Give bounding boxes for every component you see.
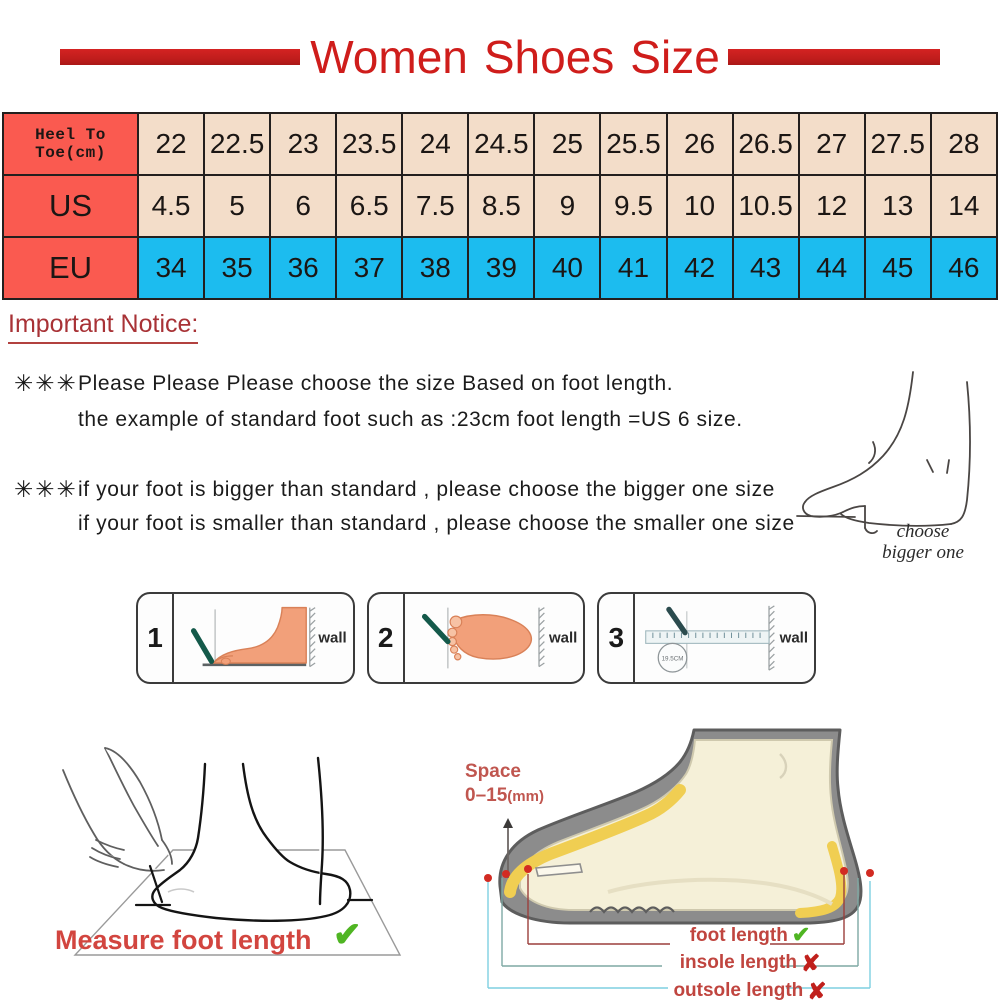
cell-us-0: 4.5 (138, 175, 204, 237)
bullet-stars-1: ✳✳✳ (14, 370, 78, 397)
cell-eu-0: 34 (138, 237, 204, 299)
sketch-caption: choose bigger one (858, 521, 988, 564)
cross-icon-insole-length: ✘ (801, 949, 820, 977)
step-illustration-2: wall (405, 594, 584, 682)
step-illustration-3: 19.5CM wall (635, 594, 814, 682)
shoe-dimension-labels: foot length ✔ insole length ✘ outsole le… (600, 922, 900, 1000)
dim-label-foot-length: foot length (690, 924, 788, 947)
notice-line-3: if your foot is bigger than standard , p… (78, 478, 775, 502)
cell-eu-9: 43 (733, 237, 799, 299)
cell-heel-1: 22.5 (204, 113, 270, 175)
cell-us-10: 12 (799, 175, 865, 237)
cell-us-2: 6 (270, 175, 336, 237)
size-chart-page: WomenShoesSize Heel To Toe(cm) 22 22.5 2… (0, 0, 1000, 1000)
cell-heel-7: 25.5 (600, 113, 666, 175)
check-icon-foot-length: ✔ (792, 922, 810, 949)
cell-heel-4: 24 (402, 113, 468, 175)
cell-us-6: 9 (534, 175, 600, 237)
measure-check-icon: ✔ (333, 918, 362, 952)
cell-heel-12: 28 (931, 113, 997, 175)
table-row: Heel To Toe(cm) 22 22.5 23 23.5 24 24.5 … (3, 113, 997, 175)
title-bar-left (60, 49, 300, 65)
cell-eu-12: 46 (931, 237, 997, 299)
cell-eu-10: 44 (799, 237, 865, 299)
page-title: WomenShoesSize (310, 34, 720, 80)
cell-eu-3: 37 (336, 237, 402, 299)
row-label-heel-to-toe: Heel To Toe(cm) (3, 113, 138, 175)
sketch-caption-line-2: bigger one (858, 542, 988, 563)
page-title-word-1: Women (310, 31, 468, 83)
sketch-caption-line-1: choose (858, 521, 988, 542)
space-unit: (mm) (507, 788, 544, 805)
notice-line-2: the example of standard foot such as :23… (78, 408, 743, 432)
page-title-banner: WomenShoesSize (0, 26, 1000, 88)
step-box-1: 1 (136, 592, 355, 684)
cell-us-5: 8.5 (468, 175, 534, 237)
cross-icon-outsole-length: ✘ (807, 977, 826, 1000)
cell-us-3: 6.5 (336, 175, 402, 237)
row-label-eu: EU (3, 237, 138, 299)
dim-label-insole-length: insole length (680, 951, 797, 974)
wall-label-2: wall (549, 630, 577, 647)
cell-heel-0: 22 (138, 113, 204, 175)
cell-us-7: 9.5 (600, 175, 666, 237)
step-box-2: 2 (367, 592, 586, 684)
space-label: Space 0–15(mm) (465, 760, 544, 808)
cell-heel-3: 23.5 (336, 113, 402, 175)
cell-heel-8: 26 (667, 113, 733, 175)
wall-label-1: wall (318, 630, 346, 647)
page-title-word-3: Size (630, 31, 719, 83)
step-number-2: 2 (369, 594, 405, 682)
space-label-line-1: Space (465, 760, 544, 784)
wall-label-3: wall (780, 630, 808, 647)
cell-eu-5: 39 (468, 237, 534, 299)
cell-heel-5: 24.5 (468, 113, 534, 175)
space-label-line-2: 0–15(mm) (465, 784, 544, 808)
dim-row-insole-length: insole length ✘ (600, 949, 900, 977)
size-conversion-table: Heel To Toe(cm) 22 22.5 23 23.5 24 24.5 … (2, 112, 998, 300)
measurement-steps: 1 (136, 592, 816, 684)
cell-us-12: 14 (931, 175, 997, 237)
notice-line-4: if your foot is smaller than standard , … (78, 512, 795, 536)
table-row: EU 34 35 36 37 38 39 40 41 42 43 44 45 4… (3, 237, 997, 299)
step-number-3: 3 (599, 594, 635, 682)
cell-heel-6: 25 (534, 113, 600, 175)
cell-us-9: 10.5 (733, 175, 799, 237)
cell-eu-2: 36 (270, 237, 336, 299)
bullet-stars-2: ✳✳✳ (14, 476, 78, 503)
cell-eu-11: 45 (865, 237, 931, 299)
dim-row-outsole-length: outsole length ✘ (600, 977, 900, 1000)
important-notice-heading: Important Notice: (8, 310, 198, 344)
page-title-word-2: Shoes (484, 31, 614, 83)
space-range: 0–15 (465, 785, 507, 806)
cell-us-8: 10 (667, 175, 733, 237)
step-illustration-1: wall (174, 594, 353, 682)
cell-heel-10: 27 (799, 113, 865, 175)
cell-eu-8: 42 (667, 237, 733, 299)
cell-eu-1: 35 (204, 237, 270, 299)
measure-foot-caption: Measure foot length (55, 925, 312, 956)
step-number-1: 1 (138, 594, 174, 682)
title-bar-right (728, 49, 940, 65)
cell-heel-11: 27.5 (865, 113, 931, 175)
cell-eu-4: 38 (402, 237, 468, 299)
dim-row-foot-length: foot length ✔ (600, 922, 900, 949)
cell-us-11: 13 (865, 175, 931, 237)
table-row: US 4.5 5 6 6.5 7.5 8.5 9 9.5 10 10.5 12 … (3, 175, 997, 237)
dim-label-outsole-length: outsole length (673, 979, 803, 1000)
cell-heel-9: 26.5 (733, 113, 799, 175)
cell-us-4: 7.5 (402, 175, 468, 237)
cell-heel-2: 23 (270, 113, 336, 175)
cell-us-1: 5 (204, 175, 270, 237)
notice-line-1: Please Please Please choose the size Bas… (78, 372, 673, 396)
row-label-us: US (3, 175, 138, 237)
step-box-3: 3 (597, 592, 816, 684)
magnifier-reading: 19.5CM (662, 655, 684, 662)
cell-eu-7: 41 (600, 237, 666, 299)
cell-eu-6: 40 (534, 237, 600, 299)
